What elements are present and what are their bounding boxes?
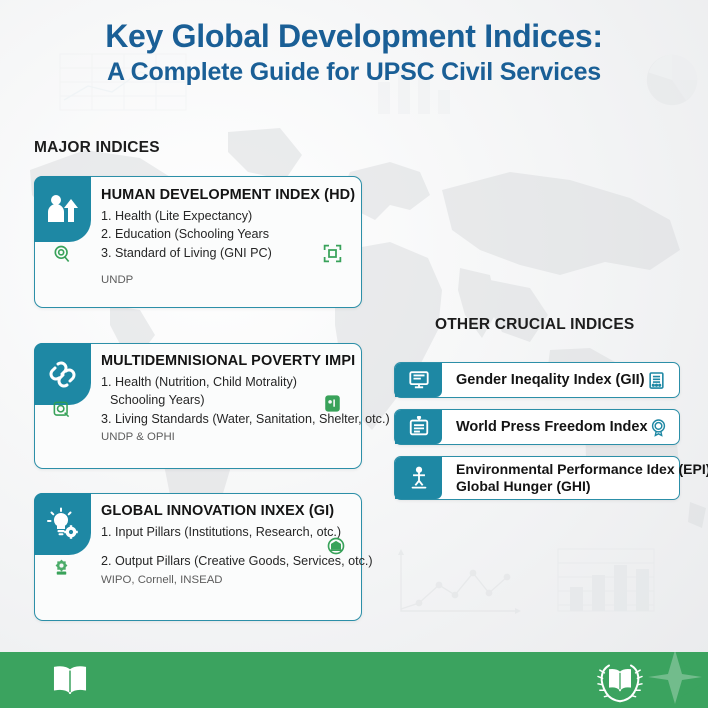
- id-card-icon: [395, 410, 442, 444]
- bar-chart-decoration: [550, 545, 660, 620]
- green-accent-seal-icon: [326, 536, 346, 561]
- card-line-1: 1. Input Pillars (Institutions, Research…: [101, 523, 349, 541]
- pill-label-line1: World Press Freedom Index: [456, 419, 648, 435]
- card-title: HUMAN DEVELOPMENT INDEX (HD): [101, 187, 349, 203]
- section-heading-other-indices: OTHER CRUCIAL INDICES: [435, 316, 634, 334]
- poster-header: Key Global Development Indices: A Comple…: [0, 0, 708, 90]
- green-accent-frame-icon: [322, 243, 343, 269]
- card-source: UNDP: [101, 274, 349, 286]
- monitor-icon: [395, 363, 442, 397]
- pill-label-line2: Global Hunger (GHI): [456, 478, 708, 496]
- pill-label: World Press Freedom Index: [442, 418, 648, 436]
- pill-label: Gender Ineqality Index (GII): [442, 371, 645, 389]
- pill-gender-inequality-index[interactable]: Gender Ineqality Index (GII): [394, 362, 680, 398]
- pill-label: Environmental Performance Idex (EPI) Glo…: [442, 461, 708, 496]
- card-line-2: 2. Output Pillars (Creative Goods, Servi…: [101, 552, 349, 570]
- pill-environmental-performance-index[interactable]: Environmental Performance Idex (EPI) Glo…: [394, 456, 680, 500]
- card-source: UNDP & OPHI: [101, 431, 349, 443]
- card-line-3: 3. Standard of Living (GNI PC): [101, 244, 349, 262]
- title-primary: Key Global Development Indices:: [0, 16, 708, 56]
- open-book-icon: [52, 664, 88, 699]
- pill-label-line1: Gender Ineqality Index (GII): [456, 372, 645, 388]
- green-accent-gear-icon: [52, 558, 71, 582]
- person-statue-icon: [395, 457, 442, 499]
- laurel-book-emblem-icon: [594, 660, 646, 708]
- card-line-2: Schooling Years): [101, 391, 349, 409]
- lightbulb-gear-icon: [34, 493, 91, 555]
- title-secondary: A Complete Guide for UPSC Civil Services: [0, 56, 708, 90]
- green-accent-tag-icon: [323, 393, 342, 419]
- infographic-poster: Key Global Development Indices: A Comple…: [0, 0, 708, 708]
- pill-world-press-freedom-index[interactable]: World Press Freedom Index: [394, 409, 680, 445]
- card-title: MULTIDEMNISIONAL POVERTY IMPI: [101, 353, 349, 369]
- sparkle-decoration: [646, 648, 704, 706]
- card-line-2: 2. Education (Schooling Years: [101, 225, 349, 243]
- card-multidimensional-poverty-index[interactable]: MULTIDEMNISIONAL POVERTY IMPI 1. Health …: [34, 343, 362, 469]
- footer-bar: [0, 652, 708, 708]
- card-line-1: 1. Health (Nutrition, Child Motrality): [101, 373, 349, 391]
- section-heading-major-indices: MAJOR INDICES: [34, 139, 160, 157]
- line-chart-decoration: [395, 545, 525, 620]
- document-icon: [645, 371, 669, 390]
- green-accent-badge-icon: [52, 400, 71, 424]
- chain-link-icon: [34, 343, 91, 405]
- card-line-3: 3. Living Standards (Water, Sanitation, …: [101, 410, 349, 428]
- card-global-innovation-index[interactable]: GLOBAL INNOVATION INXEX (GI) 1. Input Pi…: [34, 493, 362, 621]
- card-line-1: 1. Health (Lite Expectancy): [101, 207, 349, 225]
- person-growth-icon: [34, 176, 91, 242]
- card-source: WIPO, Cornell, INSEAD: [101, 574, 349, 586]
- card-human-development-index[interactable]: HUMAN DEVELOPMENT INDEX (HD) 1. Health (…: [34, 176, 362, 308]
- green-accent-badge-icon: [52, 244, 72, 269]
- card-title: GLOBAL INNOVATION INXEX (GI): [101, 503, 349, 519]
- seal-badge-icon: [648, 418, 669, 437]
- pill-label-line1: Environmental Performance Idex (EPI): [456, 461, 708, 479]
